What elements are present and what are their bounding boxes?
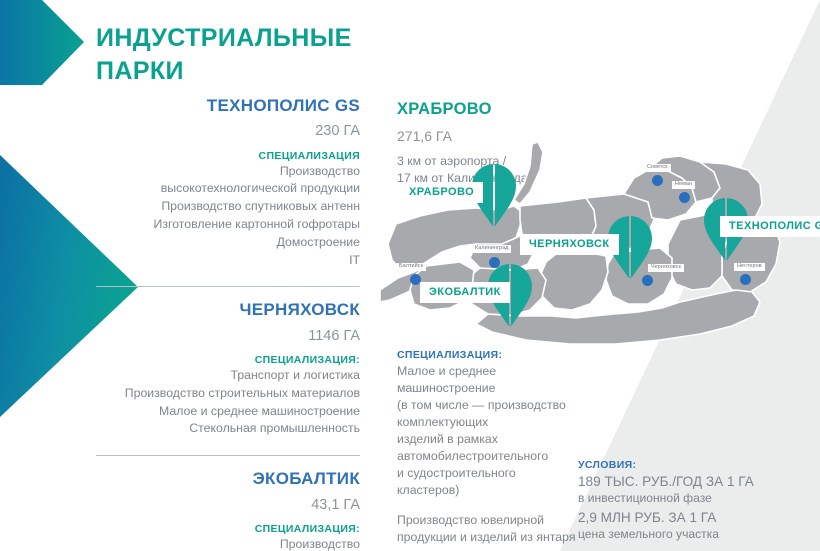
conditions-price: 2,9 МЛН РУБ. ЗА 1 ГА bbox=[578, 510, 778, 527]
conditions-price-note: цена земельного участка bbox=[578, 527, 778, 543]
spec-item: высокотехнологической продукции bbox=[96, 180, 360, 198]
city-dot-sovetsk bbox=[652, 175, 663, 186]
park-area: 1146 ГА bbox=[96, 327, 360, 345]
kaliningrad-region-map[interactable]: Советск Неман Калининград Балтийск Черня… bbox=[380, 140, 820, 370]
map-marker-label: ЧЕРНЯХОВСК bbox=[520, 234, 619, 255]
city-dot-nesterov bbox=[740, 274, 751, 285]
spacer bbox=[397, 499, 589, 510]
spacer bbox=[397, 546, 589, 551]
spec-label: СПЕЦИАЛИЗАЦИЯ: bbox=[96, 523, 360, 535]
spec-item: Транспорт и логистика bbox=[96, 367, 360, 385]
spec-item: кластеров) bbox=[397, 482, 589, 499]
spec-item: Малое и среднее bbox=[397, 363, 589, 380]
spec-item: Производство bbox=[96, 536, 360, 551]
spec-item: IT bbox=[96, 252, 360, 270]
spec-item: комплектующих bbox=[397, 414, 589, 431]
spec-item: продукции и изделий из янтаря bbox=[397, 529, 589, 546]
city-label-sovetsk: Советск bbox=[644, 164, 671, 172]
park-block-ecobaltic: ЭКОБАЛТИК 43,1 ГА СПЕЦИАЛИЗАЦИЯ: Произво… bbox=[96, 469, 360, 551]
page-title-line2: ПАРКИ bbox=[96, 55, 426, 88]
conditions-rent-note: в инвестиционной фазе bbox=[578, 491, 778, 507]
spec-group-machinery: Малое и среднее машиностроение (в том чи… bbox=[397, 363, 589, 499]
city-label-kaliningrad: Калининград bbox=[472, 245, 511, 253]
spec-item: машиностроение bbox=[397, 380, 589, 397]
city-label-nesterov: Нестеров bbox=[734, 263, 765, 271]
spec-item: Производство строительных материалов bbox=[96, 385, 360, 403]
spec-list: Транспорт и логистика Производство строи… bbox=[96, 367, 360, 438]
spec-item: Малое и среднее машиностроение bbox=[96, 403, 360, 421]
divider bbox=[96, 286, 360, 287]
infographic-page: ИНДУСТРИАЛЬНЫЕ ПАРКИ ТЕХНОПОЛИС GS 230 Г… bbox=[0, 0, 820, 551]
park-block-chernyahovsk: ЧЕРНЯХОВСК 1146 ГА СПЕЦИАЛИЗАЦИЯ: Трансп… bbox=[96, 300, 360, 438]
spec-group-jewelry: Производство ювелирной продукции и издел… bbox=[397, 512, 589, 546]
spec-item: и судостроительного bbox=[397, 465, 589, 482]
park-name: ТЕХНОПОЛИС GS bbox=[96, 96, 360, 116]
divider bbox=[96, 455, 360, 456]
spec-item: Производство bbox=[96, 163, 360, 181]
city-label-chernyahovsk: Черняховск bbox=[648, 264, 684, 272]
conditions-label: УСЛОВИЯ: bbox=[578, 459, 778, 471]
city-label-baltiysk: Балтийск bbox=[396, 263, 426, 271]
page-title: ИНДУСТРИАЛЬНЫЕ ПАРКИ bbox=[96, 22, 426, 88]
spec-label: СПЕЦИАЛИЗАЦИЯ bbox=[96, 150, 360, 162]
spec-item: Производство спутниковых антенн bbox=[96, 198, 360, 216]
conditions-rent: 189 ТЫС. РУБ./ГОД ЗА 1 ГА bbox=[578, 474, 778, 491]
spec-label: СПЕЦИАЛИЗАЦИЯ: bbox=[397, 349, 589, 361]
spec-list: Производство фармацевтической продукции … bbox=[96, 536, 360, 551]
map-marker-label: ХРАБРОВО bbox=[400, 182, 483, 203]
spec-label: СПЕЦИАЛИЗАЦИЯ: bbox=[96, 354, 360, 366]
city-label-neman: Неман bbox=[672, 181, 695, 189]
park-name-khrabrovo: ХРАБРОВО bbox=[397, 100, 587, 119]
spec-item: изделий в рамках bbox=[397, 431, 589, 448]
spec-item: Изготовление картонной гофротары bbox=[96, 216, 360, 234]
spec-item: Производство ювелирной bbox=[397, 512, 589, 529]
chevron-top-decoration bbox=[0, 0, 90, 95]
spec-list: Производство высокотехнологической проду… bbox=[96, 163, 360, 270]
spec-item: автомобилестроительного bbox=[397, 448, 589, 465]
park-area: 230 ГА bbox=[96, 122, 360, 140]
park-block-technopolis: ТЕХНОПОЛИС GS 230 ГА СПЕЦИАЛИЗАЦИЯ Произ… bbox=[96, 96, 360, 269]
spec-item: Домостроение bbox=[96, 234, 360, 252]
map-marker-label: ТЕХНОПОЛИС GS bbox=[720, 216, 820, 237]
spec-item: Стекольная промышленность bbox=[96, 420, 360, 438]
map-marker-label: ЭКОБАЛТИК bbox=[420, 282, 510, 303]
page-title-line1: ИНДУСТРИАЛЬНЫЕ bbox=[96, 22, 426, 55]
park-name: ЧЕРНЯХОВСК bbox=[96, 300, 360, 320]
conditions-block: УСЛОВИЯ: 189 ТЫС. РУБ./ГОД ЗА 1 ГА в инв… bbox=[578, 459, 778, 542]
park-area: 43,1 ГА bbox=[96, 496, 360, 514]
city-dot-neman bbox=[679, 192, 690, 203]
park-name: ЭКОБАЛТИК bbox=[96, 469, 360, 489]
map-shape bbox=[380, 140, 820, 370]
spec-item: (в том числе — производство bbox=[397, 397, 589, 414]
khrabrovo-specialization: СПЕЦИАЛИЗАЦИЯ: Малое и среднее машиностр… bbox=[397, 349, 589, 551]
left-column: ТЕХНОПОЛИС GS 230 ГА СПЕЦИАЛИЗАЦИЯ Произ… bbox=[96, 96, 360, 551]
